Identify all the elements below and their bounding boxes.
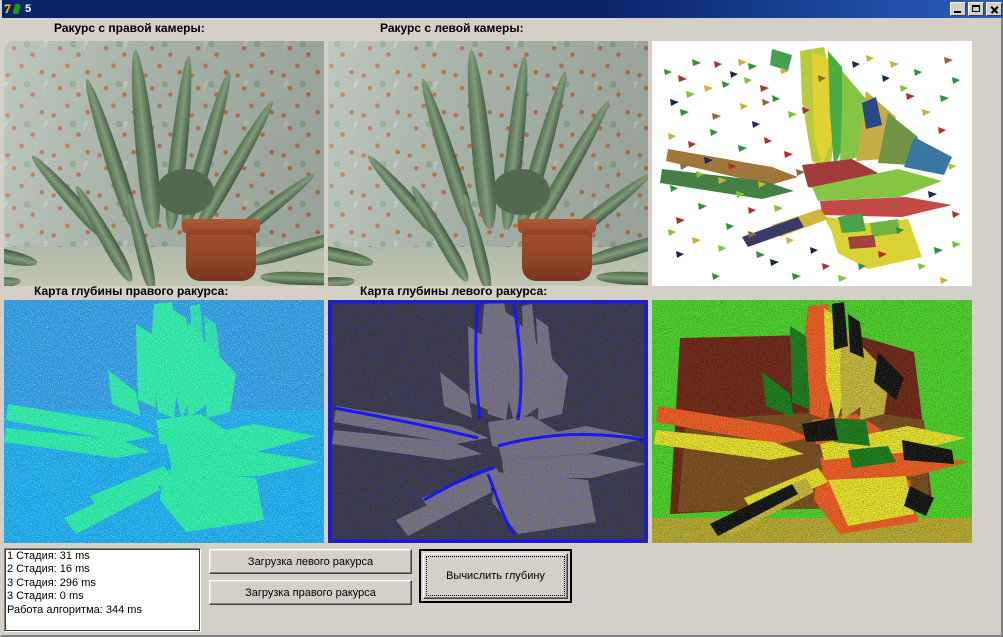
image-left-camera-view[interactable] [328,41,648,286]
application-window: 7 5 Ракурс с правой камеры: Ракурс с лев… [0,0,1003,637]
label-left-camera-view: Ракурс с левой камеры: [380,21,524,35]
image-sparse-segmentation-map[interactable] [652,41,972,286]
list-item: 3 Стадия: 0 ms [7,590,200,603]
label-depth-map-right: Карта глубины правого ракурса: [34,284,228,298]
close-icon[interactable] [986,2,1002,16]
segmentation-canvas [652,41,972,286]
aloe-photo-left [328,41,648,286]
list-item: Работа алгоритма: 344 ms [7,604,200,617]
depth-canvas-cyan [4,300,324,543]
list-item: 2 Стадия: 16 ms [7,563,200,576]
compute-depth-button[interactable]: Вычислить глубину [419,549,572,603]
window-title: 5 [25,0,31,18]
load-left-view-button[interactable]: Загрузка левого ракурса [209,549,412,574]
focus-rectangle [426,556,565,596]
delphi-app-icon: 7 [4,2,20,17]
window-controls [950,2,1002,16]
list-item: 1 Стадия: 31 ms [7,550,200,563]
list-item: 3 Стадия: 296 ms [7,577,200,590]
depth-canvas-green-red [652,300,972,543]
image-right-camera-view[interactable] [4,41,324,286]
aloe-photo-right [4,41,324,286]
label-right-camera-view: Ракурс с правой камеры: [54,21,205,35]
maximize-icon[interactable] [968,2,984,16]
image-depth-map-right[interactable] [4,300,324,543]
minimize-icon[interactable] [950,2,966,16]
algorithm-stats-listbox[interactable]: 1 Стадия: 31 ms 2 Стадия: 16 ms 3 Стадия… [4,548,201,632]
image-depth-map-color[interactable] [652,300,972,543]
load-right-view-button[interactable]: Загрузка правого ракурса [209,580,412,605]
depth-canvas-blue [328,300,648,543]
title-bar[interactable]: 7 5 [2,0,1003,18]
image-depth-map-left[interactable] [328,300,648,543]
label-depth-map-left: Карта глубины левого ракурса: [360,284,547,298]
